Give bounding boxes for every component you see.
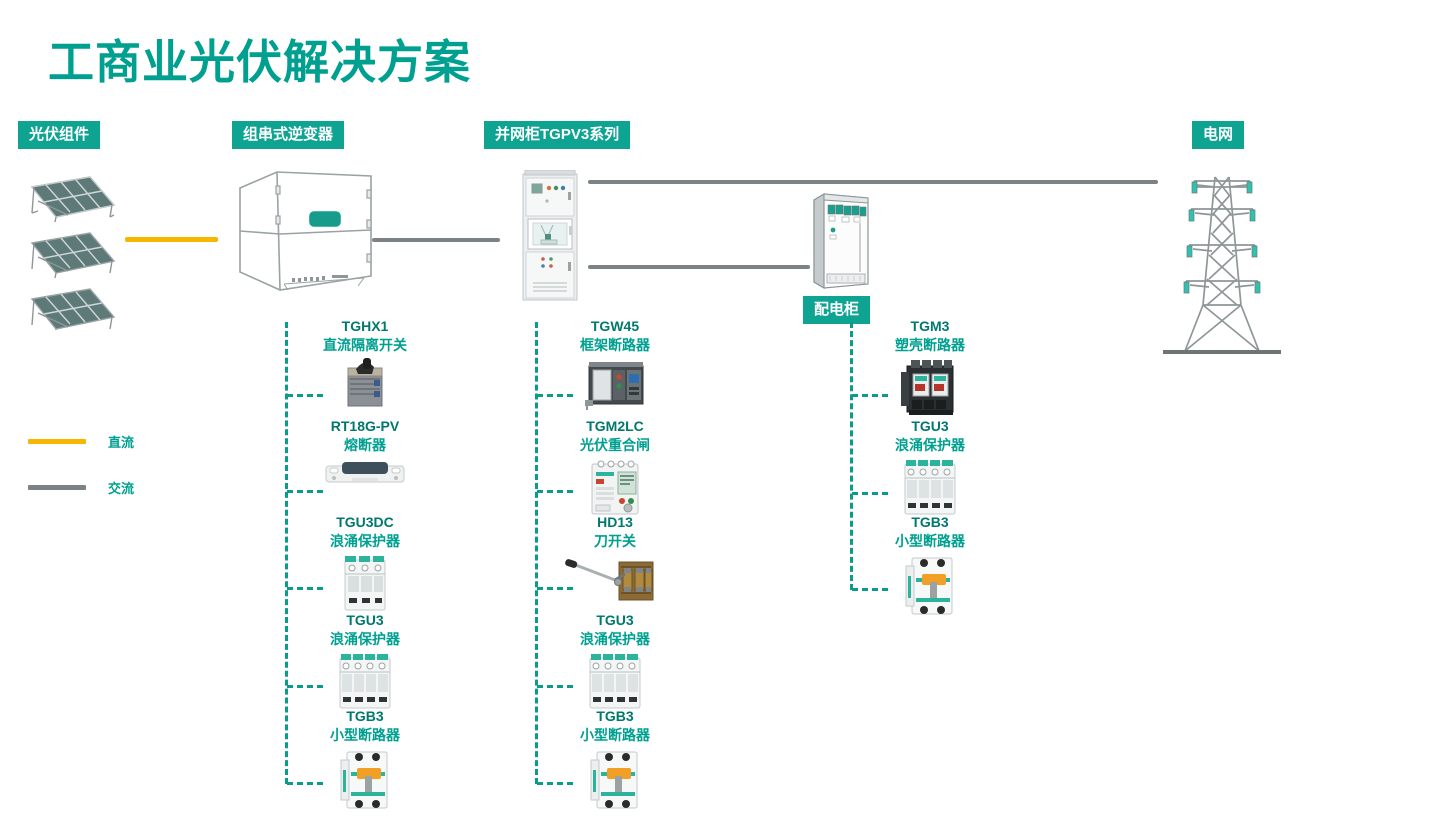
product-item[interactable]: TGU3 浪涌保护器 <box>845 418 1015 518</box>
product-desc: 小型断路器 <box>845 532 1015 550</box>
product-code: TGW45 <box>530 318 700 336</box>
product-item[interactable]: TGB3 小型断路器 <box>280 708 450 812</box>
product-item[interactable]: TGU3DC 浪涌保护器 <box>280 514 450 614</box>
stage-badge-grid-cabinet[interactable]: 并网柜TGPV3系列 <box>484 121 630 149</box>
page-title: 工商业光伏解决方案 <box>48 26 471 92</box>
product-image-spd4 <box>280 650 450 712</box>
legend-label-ac: 交流 <box>108 478 134 497</box>
product-image-acb <box>530 356 700 412</box>
product-image-recloser <box>530 456 700 518</box>
product-image-mcb <box>280 746 450 812</box>
product-image-spd4 <box>845 456 1015 518</box>
transmission-tower <box>1163 165 1281 357</box>
product-item[interactable]: HD13 刀开关 <box>530 514 700 606</box>
product-desc: 熔断器 <box>280 436 450 454</box>
product-item[interactable]: TGB3 小型断路器 <box>845 514 1015 618</box>
product-desc: 刀开关 <box>530 532 700 550</box>
product-image-mccb <box>845 356 1015 418</box>
product-code: TGU3 <box>845 418 1015 436</box>
product-item[interactable]: TGU3 浪涌保护器 <box>280 612 450 712</box>
product-item[interactable]: RT18G-PV 熔断器 <box>280 418 450 490</box>
grid-cabinet-unit <box>521 170 579 302</box>
product-desc: 浪涌保护器 <box>845 436 1015 454</box>
product-item[interactable]: TGM2LC 光伏重合闸 <box>530 418 700 518</box>
solar-array <box>18 165 124 330</box>
legend-item-dc: 直流 <box>28 432 134 451</box>
product-desc: 小型断路器 <box>280 726 450 744</box>
stage-badge-power-grid[interactable]: 电网 <box>1192 121 1244 149</box>
product-desc: 光伏重合闸 <box>530 436 700 454</box>
product-code: TGM2LC <box>530 418 700 436</box>
product-image-fuse <box>280 456 450 490</box>
product-desc: 浪涌保护器 <box>530 630 700 648</box>
legend-swatch-ac <box>28 485 86 490</box>
dc-flow-line <box>125 237 218 242</box>
product-item[interactable]: TGW45 框架断路器 <box>530 318 700 412</box>
legend-item-ac: 交流 <box>28 478 134 497</box>
product-item[interactable]: TGB3 小型断路器 <box>530 708 700 812</box>
product-item[interactable]: TGU3 浪涌保护器 <box>530 612 700 712</box>
product-code: TGB3 <box>845 514 1015 532</box>
product-image-spd4 <box>530 650 700 712</box>
product-item[interactable]: TGM3 塑壳断路器 <box>845 318 1015 418</box>
solution-diagram: 工商业光伏解决方案 光伏组件 组串式逆变器 并网柜TGPV3系列 配电柜 电网 … <box>0 0 1436 829</box>
product-code: TGHX1 <box>280 318 450 336</box>
product-code: TGB3 <box>530 708 700 726</box>
product-branch-distribution-side: TGM3 塑壳断路器 <box>850 322 1040 632</box>
inverter-unit <box>232 168 377 298</box>
product-code: HD13 <box>530 514 700 532</box>
product-image-isolator <box>280 356 450 412</box>
product-code: TGM3 <box>845 318 1015 336</box>
product-branch-grid-cabinet-side: TGW45 框架断路器 TGM2LC <box>535 322 725 822</box>
legend-swatch-dc <box>28 439 86 444</box>
product-image-knife-switch <box>530 552 700 606</box>
distribution-unit <box>810 190 872 290</box>
product-image-spd2 <box>280 552 450 614</box>
product-code: TGU3DC <box>280 514 450 532</box>
product-desc: 直流隔离开关 <box>280 336 450 354</box>
product-desc: 小型断路器 <box>530 726 700 744</box>
product-branch-dc-side: TGHX1 直流隔离开关 RT18G-PV 熔断器 <box>285 322 475 822</box>
product-desc: 框架断路器 <box>530 336 700 354</box>
product-code: TGB3 <box>280 708 450 726</box>
branch-stub <box>287 490 323 493</box>
product-item[interactable]: TGHX1 直流隔离开关 <box>280 318 450 412</box>
ac-flow-line-cabinet-to-grid <box>588 180 1158 184</box>
product-code: TGU3 <box>530 612 700 630</box>
legend-label-dc: 直流 <box>108 432 134 451</box>
product-code: RT18G-PV <box>280 418 450 436</box>
stage-badge-pv-modules[interactable]: 光伏组件 <box>18 121 100 149</box>
product-code: TGU3 <box>280 612 450 630</box>
stage-badge-string-inverter[interactable]: 组串式逆变器 <box>232 121 344 149</box>
product-image-mcb <box>530 746 700 812</box>
product-desc: 浪涌保护器 <box>280 532 450 550</box>
ac-flow-line-inverter-to-cabinet <box>372 238 500 242</box>
ac-flow-line-cabinet-to-distribution <box>588 265 810 269</box>
product-desc: 浪涌保护器 <box>280 630 450 648</box>
product-image-mcb <box>845 552 1015 618</box>
product-desc: 塑壳断路器 <box>845 336 1015 354</box>
